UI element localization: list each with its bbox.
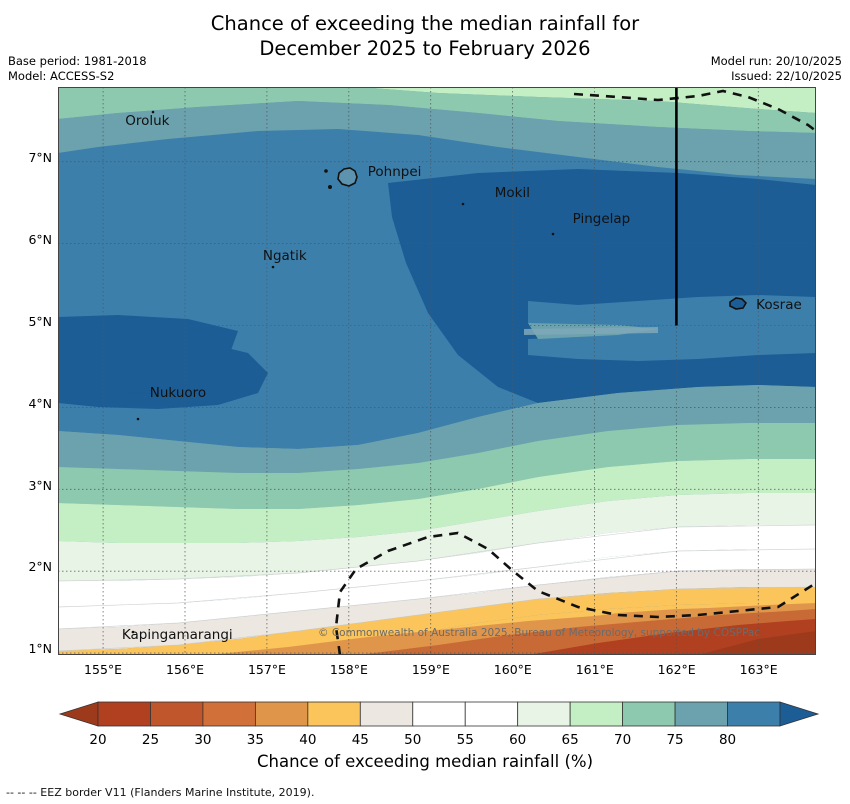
y-tick-7°N: 7°N (0, 150, 52, 165)
x-tick-155°E: 155°E (84, 662, 122, 677)
y-tick-3°N: 3°N (0, 478, 52, 493)
colorbar-block-2 (203, 702, 255, 726)
colorbar-tick-50: 50 (404, 732, 421, 748)
issued-text: Issued: 22/10/2025 (711, 69, 842, 84)
y-tick-4°N: 4°N (0, 396, 52, 411)
y-tick-5°N: 5°N (0, 314, 52, 329)
base-period-text: Base period: 1981-2018 (8, 54, 147, 69)
colorbar[interactable]: 20253035404550556065707580 (0, 698, 850, 744)
annotation-left: Base period: 1981-2018 Model: ACCESS-S2 (8, 54, 147, 84)
colorbar-tick-45: 45 (352, 732, 369, 748)
annotation-right: Model run: 20/10/2025 Issued: 22/10/2025 (711, 54, 842, 84)
colorbar-block-11 (675, 702, 727, 726)
colorbar-block-12 (728, 702, 780, 726)
colorbar-tick-75: 75 (666, 732, 683, 748)
model-run-text: Model run: 20/10/2025 (711, 54, 842, 69)
colorbar-tick-55: 55 (457, 732, 474, 748)
colorbar-block-9 (570, 702, 622, 726)
footer-eez-note: -- -- -- EEZ border V11 (Flanders Marine… (6, 786, 314, 799)
colorbar-tick-20: 20 (89, 732, 106, 748)
x-tick-162°E: 162°E (658, 662, 696, 677)
colorbar-block-6 (413, 702, 465, 726)
contour-bands (58, 87, 816, 655)
colorbar-block-7 (465, 702, 517, 726)
colorbar-block-3 (255, 702, 307, 726)
x-tick-163°E: 163°E (740, 662, 778, 677)
colorbar-block-1 (150, 702, 202, 726)
y-tick-6°N: 6°N (0, 232, 52, 247)
colorbar-tick-65: 65 (562, 732, 579, 748)
colorbar-tick-70: 70 (614, 732, 631, 748)
colorbar-tick-60: 60 (509, 732, 526, 748)
colorbar-tick-30: 30 (194, 732, 211, 748)
colorbar-block-8 (518, 702, 570, 726)
colorbar-tick-25: 25 (142, 732, 159, 748)
x-tick-156°E: 156°E (166, 662, 204, 677)
colorbar-block-4 (308, 702, 360, 726)
map-plot-area[interactable]: Oroluk Pohnpei Mokil Pingelap Ngatik Kos… (58, 87, 816, 655)
colorbar-tick-35: 35 (247, 732, 264, 748)
colorbar-under-arrow (60, 702, 98, 726)
x-tick-161°E: 161°E (576, 662, 614, 677)
colorbar-block-10 (623, 702, 675, 726)
colorbar-block-5 (360, 702, 412, 726)
colorbar-block-0 (98, 702, 150, 726)
colorbar-tick-80: 80 (719, 732, 736, 748)
contour-map-svg (58, 87, 816, 655)
copyright-text: © Commonwealth of Australia 2025, Bureau… (318, 627, 760, 639)
y-tick-2°N: 2°N (0, 559, 52, 574)
colorbar-tick-40: 40 (299, 732, 316, 748)
y-tick-1°N: 1°N (0, 641, 52, 656)
x-tick-158°E: 158°E (330, 662, 368, 677)
colorbar-title: Chance of exceeding median rainfall (%) (0, 752, 850, 771)
x-tick-157°E: 157°E (248, 662, 286, 677)
model-text: Model: ACCESS-S2 (8, 69, 147, 84)
x-tick-159°E: 159°E (412, 662, 450, 677)
colorbar-over-arrow (780, 702, 818, 726)
x-tick-160°E: 160°E (494, 662, 532, 677)
